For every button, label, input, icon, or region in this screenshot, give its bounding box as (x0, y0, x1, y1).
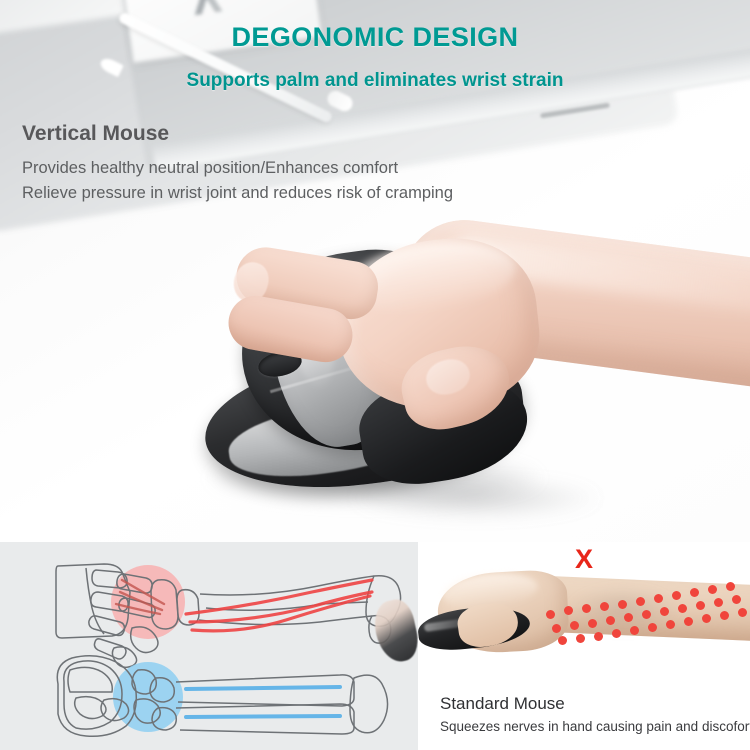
neutral-wrist-diagram (57, 656, 387, 737)
feature-item: Provides healthy neutral position/Enhanc… (22, 156, 582, 181)
wrist-anatomy-svg (0, 542, 418, 750)
strained-wrist-diagram (56, 564, 401, 667)
banner-subtitle: Supports palm and eliminates wrist strai… (0, 70, 750, 92)
strained-tendon-lines (186, 580, 372, 631)
neutral-tendon-lines (186, 687, 340, 717)
vertical-mouse-photo (150, 210, 750, 540)
hand-bone-outline-top (56, 564, 401, 667)
product-banner: DEGONOMIC DESIGN Supports palm and elimi… (0, 0, 750, 750)
feature-list: Provides healthy neutral position/Enhanc… (22, 156, 582, 206)
carpal-tunnel-red-highlight (111, 565, 185, 639)
hand-bone-outline-bottom (57, 656, 387, 737)
x-mark-icon: X (418, 546, 750, 573)
standard-mouse-panel: X (418, 542, 750, 750)
section-heading: Vertical Mouse (22, 122, 169, 146)
comparison-section: X (0, 542, 750, 750)
product-shadow-soft (350, 478, 600, 518)
standard-mouse-caption-sub: Squeezes nerves in hand causing pain and… (440, 719, 750, 734)
feature-item: Relieve pressure in wrist joint and redu… (22, 181, 582, 206)
anatomy-diagram-panel (0, 542, 418, 750)
hero-section: DEGONOMIC DESIGN Supports palm and elimi… (0, 0, 750, 542)
banner-title: DEGONOMIC DESIGN (0, 22, 750, 53)
standard-mouse-caption-title: Standard Mouse (440, 694, 565, 714)
